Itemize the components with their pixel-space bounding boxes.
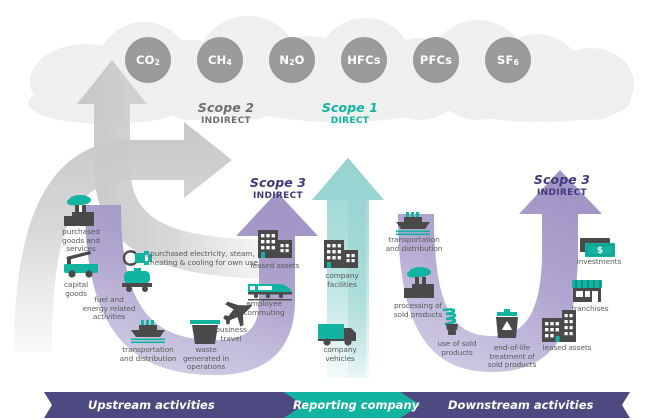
factory-icon — [64, 195, 94, 226]
label-downstream-leased-assets: leased assets — [532, 344, 602, 353]
label-company-vehicles: companyvehicles — [310, 346, 370, 363]
label-purchased-goods-and-services: purchasedgoods andservices — [48, 228, 114, 254]
label-franchises: franchises — [562, 305, 618, 314]
svg-text:$: $ — [597, 246, 603, 256]
cargo-ship-icon — [396, 212, 430, 235]
label-waste-generated-in-operations: wastegenerated inoperations — [175, 346, 237, 372]
bar-label-downstream: Downstream activities — [448, 398, 593, 412]
label-investments: investments — [568, 258, 630, 267]
label-business-travel: businesstravel — [205, 326, 257, 343]
bar-label-upstream: Upstream activities — [88, 398, 215, 412]
label-employee-commuting: employeecommuting — [232, 300, 296, 317]
bar-label-reporting: Reporting company — [293, 398, 419, 412]
crane-truck-icon — [64, 251, 98, 278]
recycle-bin-icon — [496, 309, 518, 338]
cargo-ship-icon — [131, 320, 165, 343]
train-icon — [248, 284, 292, 300]
office-building-icon — [542, 310, 576, 342]
label-fuel-and-energy-related-activities: fuel andenergy relatedactivities — [68, 296, 150, 322]
label-downstream-transportation-and-distribution: transportationand distribution — [374, 236, 454, 253]
storefront-icon — [572, 280, 602, 302]
office-building-icon — [324, 240, 358, 268]
label-processing-of-sold-products: processing ofsold products — [382, 302, 454, 319]
power-plug-icon — [124, 251, 152, 265]
factory-icon — [404, 267, 434, 298]
label-purchased-electricity: purchased electricity, steam,heating & c… — [150, 250, 280, 267]
label-company-facilities: companyfacilities — [312, 272, 372, 289]
fuel-tanker-icon — [122, 268, 152, 292]
delivery-truck-icon — [318, 324, 356, 346]
money-icon: $ — [580, 238, 615, 257]
ghg-scopes-diagram: CO2 CH4 N2O HFCs PFCs SF6 — [0, 0, 656, 420]
